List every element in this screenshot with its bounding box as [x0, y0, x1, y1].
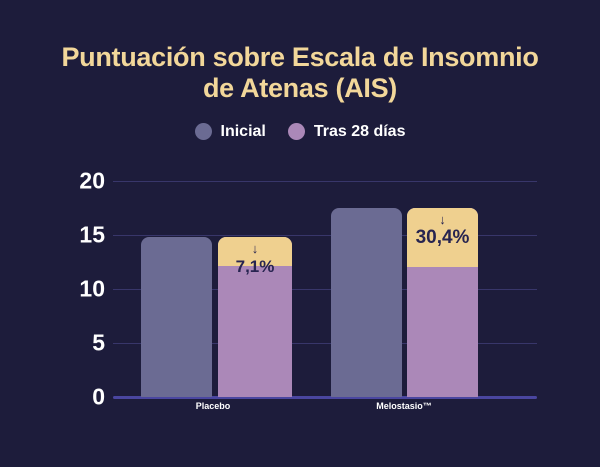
x-label-melostasio: Melostasio™ — [376, 400, 432, 412]
delta-label-placebo: 7,1% — [236, 256, 275, 277]
legend-label-tras-28-dias: Tras 28 días — [314, 123, 406, 140]
bar-melostasio-tras-28-dias: ↓ 30,4% — [407, 208, 478, 397]
chart-legend: Inicial Tras 28 días — [0, 123, 600, 140]
down-arrow-icon: ↓ — [439, 213, 446, 226]
legend-label-inicial: Inicial — [221, 123, 266, 140]
y-tick-10: 10 — [0, 278, 105, 301]
chart-container: Puntuación sobre Escala de Insomnio de A… — [0, 0, 600, 467]
legend-item-tras-28-dias: Tras 28 días — [288, 123, 406, 140]
y-tick-5: 5 — [0, 332, 105, 355]
chart-title-line-1: Puntuación sobre Escala de Insomnio — [0, 42, 600, 73]
legend-item-inicial: Inicial — [195, 123, 266, 140]
x-axis-labels: Placebo Melostasio™ — [113, 400, 537, 420]
delta-band-melostasio: ↓ 30,4% — [407, 208, 478, 267]
bar-group-container: ↓ 7,1% ↓ 30,4% — [113, 181, 537, 397]
x-label-placebo: Placebo — [196, 400, 231, 412]
bar-melostasio-inicial — [331, 208, 402, 397]
legend-swatch-icon — [288, 123, 305, 140]
chart-title-line-2: de Atenas (AIS) — [0, 73, 600, 104]
bar-placebo-inicial — [141, 237, 212, 397]
y-tick-0: 0 — [0, 386, 105, 409]
delta-label-melostasio: 30,4% — [416, 227, 470, 248]
x-label-melostasio-text: Melostasio™ — [376, 401, 432, 411]
y-axis-labels: 20 15 10 5 0 — [0, 181, 105, 397]
delta-band-placebo: ↓ 7,1% — [218, 237, 292, 266]
y-tick-15: 15 — [0, 224, 105, 247]
x-label-placebo-text: Placebo — [196, 401, 231, 411]
y-tick-20: 20 — [0, 170, 105, 193]
legend-swatch-icon — [195, 123, 212, 140]
down-arrow-icon: ↓ — [252, 242, 259, 255]
bar-placebo-tras-28-dias: ↓ 7,1% — [218, 237, 292, 397]
chart-title: Puntuación sobre Escala de Insomnio de A… — [0, 42, 600, 104]
